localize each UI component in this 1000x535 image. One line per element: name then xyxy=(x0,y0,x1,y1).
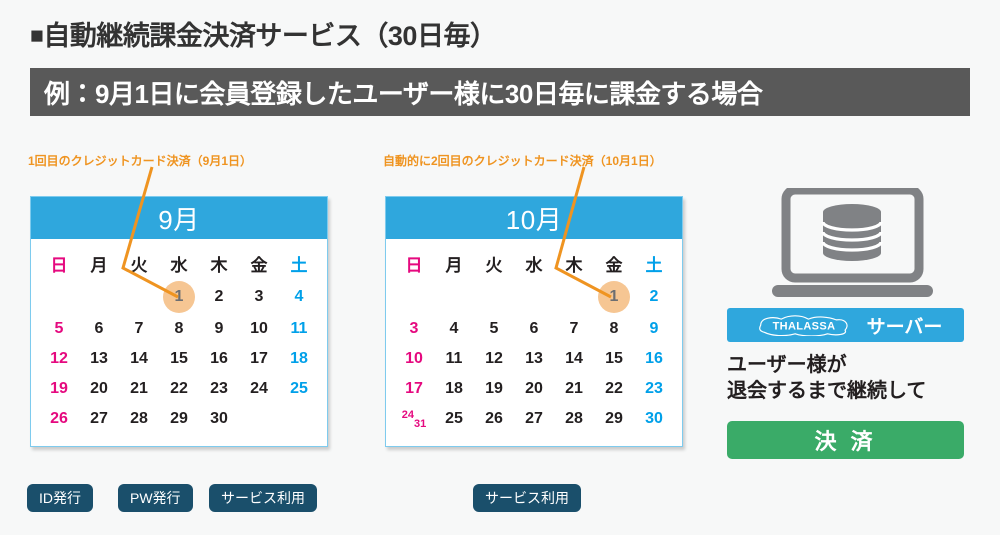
charge-day-marker: 1 xyxy=(163,281,195,313)
calendar-week-row: 26 27 28 29 30 xyxy=(39,404,319,434)
day-cell: 12 xyxy=(474,344,514,374)
day-cell: 29 xyxy=(159,404,199,434)
day-cell: 29 xyxy=(594,404,634,434)
day-cell: 8 xyxy=(159,314,199,344)
calendar-october-month: 10月 xyxy=(386,197,682,239)
continuation-description: ユーザー様が 退会するまで継続して xyxy=(727,352,926,405)
weekday-fri: 金 xyxy=(594,245,634,280)
day-cell: 15 xyxy=(594,344,634,374)
day-cell: 21 xyxy=(554,374,594,404)
infographic-page: ■自動継続課金決済サービス（30日毎） 例：9月1日に会員登録したユーザー様に3… xyxy=(0,0,1000,535)
day-cell: 15 xyxy=(159,344,199,374)
calendar-week-row: 17 18 19 20 21 22 23 xyxy=(394,374,674,404)
calendar-september-month: 9月 xyxy=(31,197,327,239)
example-banner-text: 例：9月1日に会員登録したユーザー様に30日毎に課金する場合 xyxy=(30,74,762,111)
day-cell: 5 xyxy=(474,314,514,344)
calendar-september: 9月 日 月 火 水 木 金 土 xyxy=(30,196,328,447)
example-banner: 例：9月1日に会員登録したユーザー様に30日毎に課金する場合 xyxy=(30,68,970,116)
continuation-line-2: 退会するまで継続して xyxy=(727,378,926,404)
day-cell: 21 xyxy=(119,374,159,404)
day-cell: 17 xyxy=(239,344,279,374)
day-cell xyxy=(79,280,119,314)
day-cell: 9 xyxy=(634,314,674,344)
day-cell: 16 xyxy=(634,344,674,374)
weekday-wed: 水 xyxy=(159,245,199,280)
day-cell xyxy=(39,280,79,314)
thalassa-logo-icon: THALASSA xyxy=(749,314,859,336)
day-cell: 6 xyxy=(514,314,554,344)
calendar-week-row: 2431 25 26 27 28 29 30 xyxy=(394,404,674,434)
day-cell: 4 xyxy=(279,280,319,314)
calendar-week-row: 1 2 xyxy=(394,280,674,314)
calendar-september-body: 日 月 火 水 木 金 土 1 2 xyxy=(31,239,327,446)
day-cell: 22 xyxy=(594,374,634,404)
weekday-thu: 木 xyxy=(199,245,239,280)
calendar-week-row: 19 20 21 22 23 24 25 xyxy=(39,374,319,404)
day-cell: 28 xyxy=(119,404,159,434)
day-cell: 3 xyxy=(394,314,434,344)
day-cell xyxy=(474,280,514,314)
day-cell: 18 xyxy=(434,374,474,404)
calendar-week-row: 5 6 7 8 9 10 11 xyxy=(39,314,319,344)
day-cell xyxy=(434,280,474,314)
day-cell: 20 xyxy=(514,374,554,404)
day-cell: 24 xyxy=(239,374,279,404)
day-cell: 25 xyxy=(279,374,319,404)
day-cell: 18 xyxy=(279,344,319,374)
weekday-tue: 火 xyxy=(474,245,514,280)
day-cell: 20 xyxy=(79,374,119,404)
page-title: ■自動継続課金決済サービス（30日毎） xyxy=(30,14,496,53)
calendar-week-row: 3 4 5 6 7 8 9 xyxy=(394,314,674,344)
page-title-text: 自動継続課金決済サービス（30日毎） xyxy=(43,21,496,51)
day-cell: 11 xyxy=(434,344,474,374)
day-cell: 30 xyxy=(634,404,674,434)
day-cell: 4 xyxy=(434,314,474,344)
callout-second-charge: 自動的に2回目のクレジットカード決済（10月1日） xyxy=(383,152,662,169)
day-cell: 27 xyxy=(514,404,554,434)
day-cell xyxy=(394,280,434,314)
weekday-fri: 金 xyxy=(239,245,279,280)
laptop-database-icon xyxy=(770,188,935,303)
calendar-october-grid: 日 月 火 水 木 金 土 xyxy=(394,245,674,434)
day-cell xyxy=(119,280,159,314)
charge-day-marker: 1 xyxy=(598,281,630,313)
day-cell: 10 xyxy=(394,344,434,374)
day-cell: 7 xyxy=(119,314,159,344)
day-cell xyxy=(554,280,594,314)
weekday-header-row: 日 月 火 水 木 金 土 xyxy=(394,245,674,280)
day-cell: 6 xyxy=(79,314,119,344)
calendar-october-body: 日 月 火 水 木 金 土 xyxy=(386,239,682,446)
calendar-september-grid: 日 月 火 水 木 金 土 1 2 xyxy=(39,245,319,434)
day-cell: 2 xyxy=(199,280,239,314)
calendar-october: 10月 日 月 火 水 木 金 土 xyxy=(385,196,683,447)
day-cell: 9 xyxy=(199,314,239,344)
day-cell: 13 xyxy=(514,344,554,374)
brand-bar: THALASSA サーバー xyxy=(727,308,964,342)
day-cell: 23 xyxy=(199,374,239,404)
day-cell-highlighted: 1 xyxy=(159,280,199,314)
day-cell: 22 xyxy=(159,374,199,404)
weekday-header-row: 日 月 火 水 木 金 土 xyxy=(39,245,319,280)
day-cell xyxy=(514,280,554,314)
callout-first-charge: 1回目のクレジットカード決済（9月1日） xyxy=(28,152,252,169)
day-cell: 14 xyxy=(119,344,159,374)
calendar-week-row: 12 13 14 15 16 17 18 xyxy=(39,344,319,374)
day-cell: 10 xyxy=(239,314,279,344)
day-cell: 25 xyxy=(434,404,474,434)
day-cell xyxy=(239,404,279,434)
day-cell: 11 xyxy=(279,314,319,344)
thalassa-logo-text: THALASSA xyxy=(772,320,835,332)
weekday-sun: 日 xyxy=(394,245,434,280)
weekday-tue: 火 xyxy=(119,245,159,280)
brand-suffix-label: サーバー xyxy=(867,312,943,339)
database-glyph xyxy=(823,204,881,261)
day-cell: 30 xyxy=(199,404,239,434)
day-cell: 17 xyxy=(394,374,434,404)
payment-button[interactable]: 決 済 xyxy=(727,421,964,459)
day-cell: 3 xyxy=(239,280,279,314)
dual-day-wrapper: 2431 xyxy=(402,410,427,430)
day-cell: 7 xyxy=(554,314,594,344)
continuation-line-1: ユーザー様が xyxy=(727,352,926,378)
day-cell-dual: 2431 xyxy=(394,404,434,434)
weekday-thu: 木 xyxy=(554,245,594,280)
day-cell: 8 xyxy=(594,314,634,344)
day-cell-highlighted: 1 xyxy=(594,280,634,314)
pill-service-use-september[interactable]: サービス利用 xyxy=(209,484,317,512)
day-cell: 14 xyxy=(554,344,594,374)
dual-day-sup: 24 xyxy=(402,409,414,421)
day-cell: 23 xyxy=(634,374,674,404)
calendar-week-row: 10 11 12 13 14 15 16 xyxy=(394,344,674,374)
day-cell: 12 xyxy=(39,344,79,374)
weekday-mon: 月 xyxy=(79,245,119,280)
day-cell: 13 xyxy=(79,344,119,374)
day-cell: 27 xyxy=(79,404,119,434)
weekday-wed: 水 xyxy=(514,245,554,280)
weekday-sun: 日 xyxy=(39,245,79,280)
bullet-square-icon: ■ xyxy=(30,22,43,48)
calendar-week-row: 1 2 3 4 xyxy=(39,280,319,314)
weekday-mon: 月 xyxy=(434,245,474,280)
day-cell: 16 xyxy=(199,344,239,374)
dual-day-sub: 31 xyxy=(414,418,426,430)
day-cell: 26 xyxy=(39,404,79,434)
day-cell: 5 xyxy=(39,314,79,344)
day-cell xyxy=(279,404,319,434)
pill-pw-issue[interactable]: PW発行 xyxy=(118,484,193,512)
day-cell: 19 xyxy=(39,374,79,404)
weekday-sat: 土 xyxy=(279,245,319,280)
day-cell: 2 xyxy=(634,280,674,314)
day-cell: 26 xyxy=(474,404,514,434)
day-cell: 28 xyxy=(554,404,594,434)
pill-id-issue[interactable]: ID発行 xyxy=(27,484,93,512)
weekday-sat: 土 xyxy=(634,245,674,280)
day-cell: 19 xyxy=(474,374,514,404)
pill-service-use-october[interactable]: サービス利用 xyxy=(473,484,581,512)
